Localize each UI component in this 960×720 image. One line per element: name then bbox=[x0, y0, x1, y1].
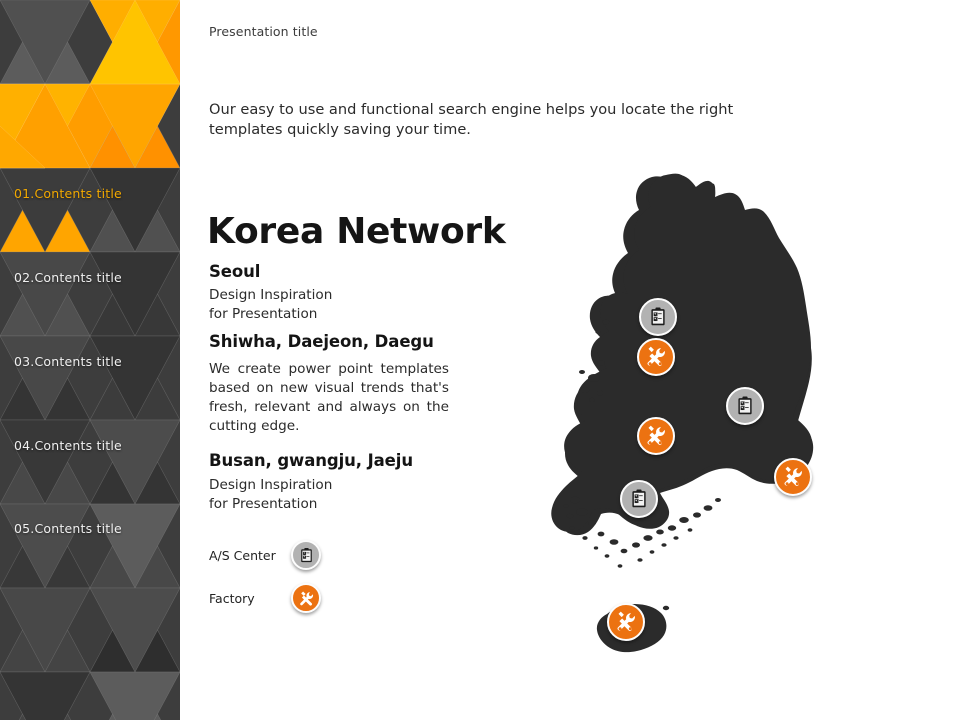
tools-icon bbox=[781, 465, 805, 489]
map-marker-seoul-as-center[interactable] bbox=[639, 298, 677, 336]
clipboard-icon bbox=[628, 488, 650, 510]
clipboard-icon bbox=[647, 306, 669, 328]
map-marker-shiwha-factory[interactable] bbox=[637, 338, 675, 376]
slide-canvas: 01.Contents title 02.Contents title 03.C… bbox=[0, 0, 960, 720]
tools-icon bbox=[614, 610, 638, 634]
tools-icon bbox=[644, 424, 668, 448]
map-marker-busan-factory[interactable] bbox=[774, 458, 812, 496]
map-marker-daejeon-as-center[interactable] bbox=[726, 387, 764, 425]
clipboard-icon bbox=[734, 395, 756, 417]
korea-map bbox=[0, 0, 960, 720]
map-marker-jeju-factory[interactable] bbox=[607, 603, 645, 641]
map-marker-daegu-factory[interactable] bbox=[637, 417, 675, 455]
map-marker-gwangju-as-center[interactable] bbox=[620, 480, 658, 518]
jeju-islet bbox=[663, 606, 669, 610]
tools-icon bbox=[644, 345, 668, 369]
